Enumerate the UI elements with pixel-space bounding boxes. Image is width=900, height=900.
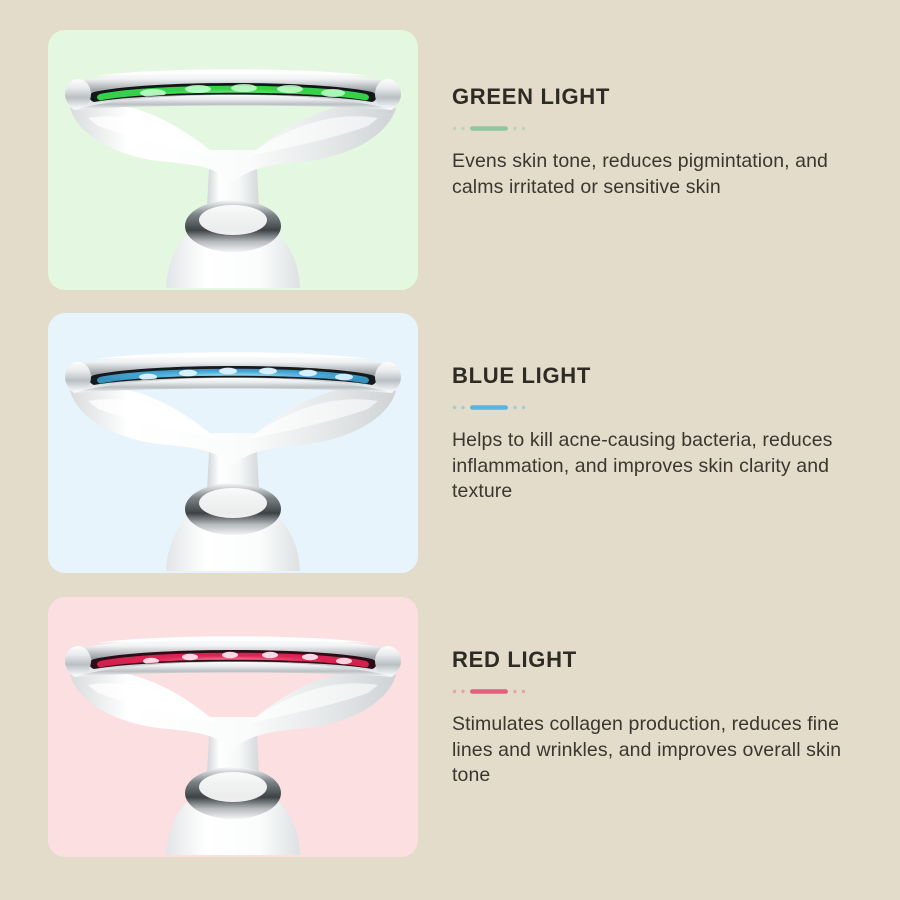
device-tip-right <box>375 79 401 109</box>
section-red-light: RED LIGHT Stimulates collagen production… <box>0 597 900 857</box>
divider-green <box>452 125 538 132</box>
divider-red <box>452 688 538 695</box>
infographic-board: GREEN LIGHT Evens skin tone, reduces pig… <box>0 0 900 900</box>
section-blue-light: BLUE LIGHT Helps to kill acne-causing ba… <box>0 313 900 573</box>
device-tip-left <box>65 79 91 109</box>
section-copy-green: GREEN LIGHT Evens skin tone, reduces pig… <box>452 30 872 290</box>
device-tip-right <box>375 362 401 392</box>
device-ring-highlight <box>199 205 267 235</box>
section-copy-blue: BLUE LIGHT Helps to kill acne-causing ba… <box>452 313 872 573</box>
section-body-green: Evens skin tone, reduces pigmintation, a… <box>452 132 872 200</box>
device-ring-highlight <box>199 488 267 518</box>
device-ring-highlight <box>199 772 267 802</box>
device-illustration-blue <box>48 313 418 573</box>
section-copy-red: RED LIGHT Stimulates collagen production… <box>452 597 872 857</box>
section-green-light: GREEN LIGHT Evens skin tone, reduces pig… <box>0 30 900 290</box>
product-image-panel-blue <box>48 313 418 573</box>
device-wing-body <box>70 671 396 749</box>
divider-blue <box>452 404 538 411</box>
device-tip-left <box>65 362 91 392</box>
device-tip-right <box>375 646 401 676</box>
product-image-panel-red <box>48 597 418 857</box>
product-image-panel-green <box>48 30 418 290</box>
section-body-blue: Helps to kill acne-causing bacteria, red… <box>452 411 872 505</box>
section-title-blue: BLUE LIGHT <box>452 365 872 387</box>
device-tip-left <box>65 646 91 676</box>
section-title-red: RED LIGHT <box>452 649 872 671</box>
device-wing-body <box>70 104 396 182</box>
device-illustration-green <box>48 30 418 290</box>
device-wing-body <box>70 387 396 465</box>
section-body-red: Stimulates collagen production, reduces … <box>452 695 852 789</box>
section-title-green: GREEN LIGHT <box>452 86 872 108</box>
device-illustration-red <box>48 597 418 857</box>
